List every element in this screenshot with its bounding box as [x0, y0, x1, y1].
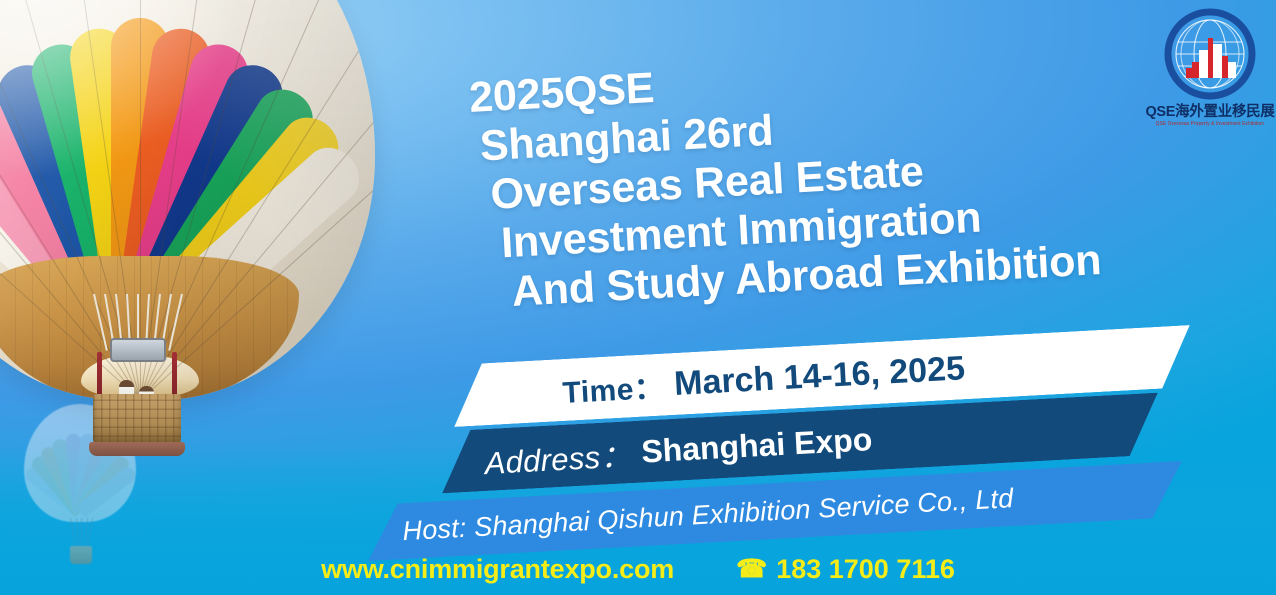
- phone-number: 183 1700 7116: [776, 554, 955, 585]
- address-value: Shanghai Expo: [640, 421, 873, 470]
- exhibition-promo-banner: QSE海外置业移民展 QSE Overseas Property & Inves…: [0, 0, 1276, 595]
- balloon-basket: [93, 394, 181, 446]
- time-label: Time：: [561, 363, 665, 412]
- time-value: March 14-16, 2025: [673, 349, 966, 404]
- address-label: Address：: [483, 430, 632, 483]
- page-title: 2025QSE Shanghai 26rd Overseas Real Esta…: [468, 33, 1240, 319]
- basket-upright-right: [172, 352, 177, 400]
- distant-basket-wire: [81, 518, 82, 548]
- balloon-basket-rig: [67, 294, 207, 454]
- hot-air-balloon: [0, 0, 375, 400]
- distant-basket-wire: [76, 518, 80, 548]
- balloon-basket-base: [89, 442, 185, 456]
- basket-upright-left: [97, 352, 102, 400]
- distant-basket-wire: [70, 518, 76, 548]
- telephone-icon: ☎: [736, 557, 767, 582]
- website-link[interactable]: www.cnimmigrantexpo.com: [321, 554, 674, 585]
- distant-basket-wire: [87, 518, 93, 548]
- footer-contact: www.cnimmigrantexpo.com ☎ 183 1700 7116: [0, 554, 1276, 585]
- phone-contact: ☎ 183 1700 7116: [736, 554, 955, 585]
- balloon-burner: [110, 338, 166, 362]
